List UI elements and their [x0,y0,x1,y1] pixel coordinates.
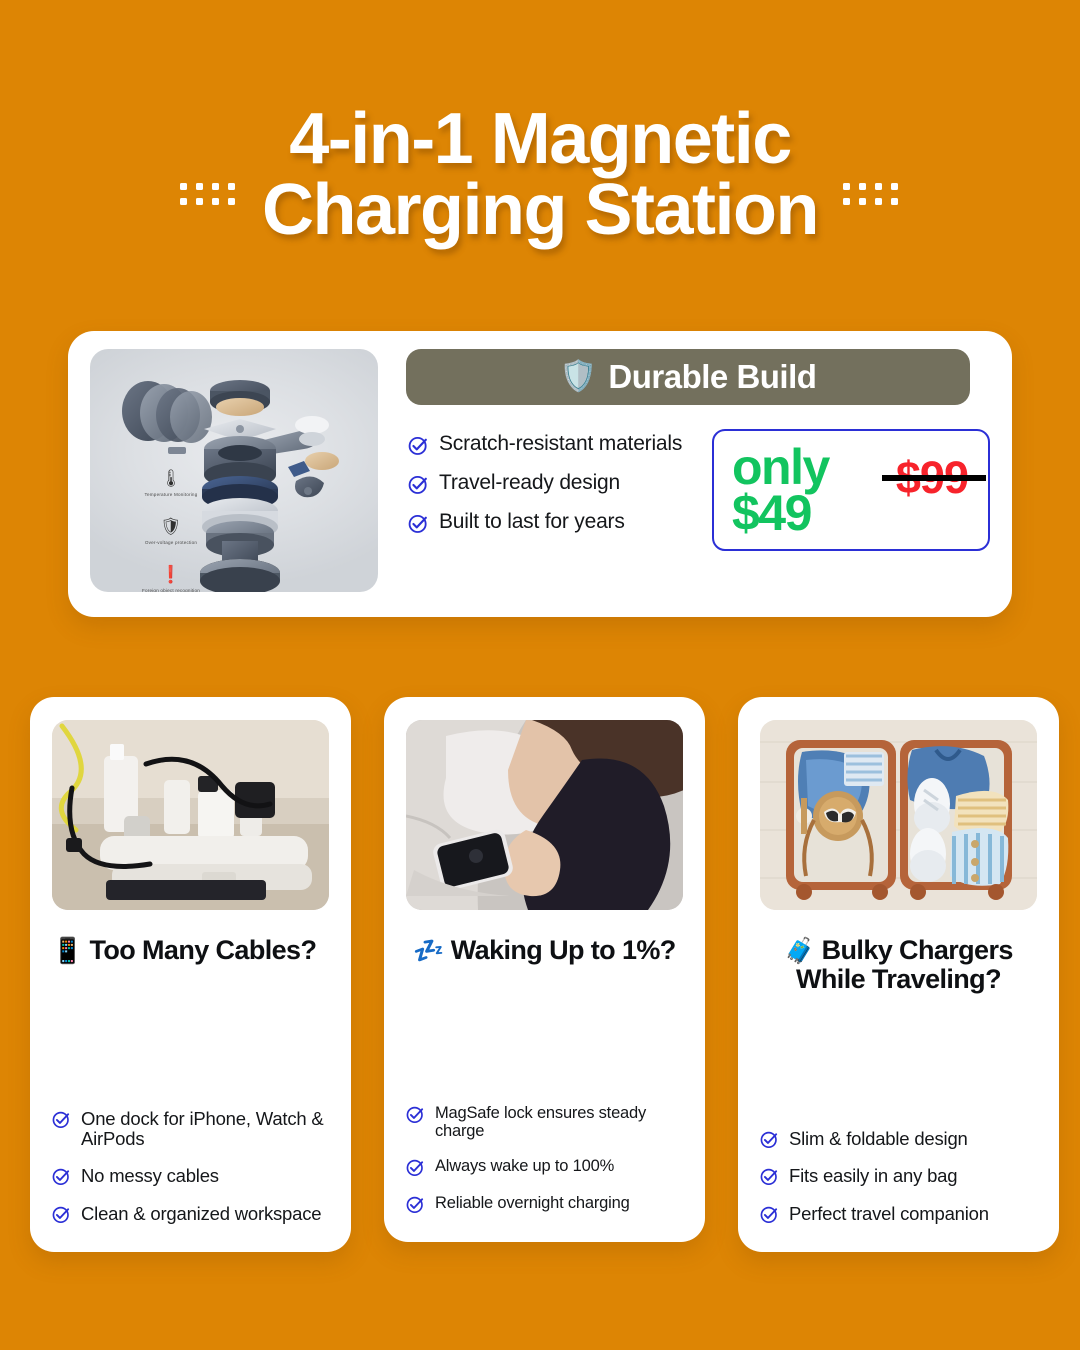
benefit-card-too-many-cables: 📱 Too Many Cables? One dock for iPhone, … [30,697,351,1252]
check-circle-icon [408,474,429,495]
zzz-sleep-emoji: 💤 [413,937,444,965]
power-strip-illustration [52,720,329,910]
thermometer-snowflake-icon: 🌡 [124,469,218,489]
exclamation-circle-icon: ❗ [124,565,218,585]
list-item: Clean & organized workspace [52,1204,329,1224]
page-title: 4-in-1 Magnetic Charging Station [0,104,1080,245]
product-feature-temperature: 🌡 Temperature Monitoring [124,469,218,498]
card-title-text: Bulky Chargers While Traveling? [796,935,1013,994]
dot-grid-right-decoration [843,183,898,205]
bullet-text: Perfect travel companion [789,1204,989,1224]
header: 4-in-1 Magnetic Charging Station [0,0,1080,300]
product-feature-foreign-object: ❗ Foreign object recognition [124,565,218,592]
feature-text: Built to last for years [439,511,625,534]
check-circle-icon [760,1130,779,1149]
bullet-text: Reliable overnight charging [435,1194,630,1212]
list-item: Always wake up to 100% [406,1157,683,1177]
price-box: only $49 $99 [712,429,990,551]
bullet-text: MagSafe lock ensures steady charge [435,1104,683,1140]
original-price-strikethrough: $99 [896,455,968,500]
card-bullet-list: MagSafe lock ensures steady charge Alway… [406,1104,683,1216]
check-circle-icon [408,513,429,534]
benefit-card-bulky-chargers: 🧳 Bulky Chargers While Traveling? Slim &… [738,697,1059,1252]
product-feature-label: Foreign object recognition [124,587,218,592]
check-circle-icon [406,1158,425,1177]
bullet-text: Always wake up to 100% [435,1157,614,1175]
check-circle-icon [760,1167,779,1186]
check-circle-icon [52,1167,71,1186]
list-item: Fits easily in any bag [760,1166,1037,1186]
bullet-text: Fits easily in any bag [789,1166,957,1186]
current-price: only $49 [732,444,829,536]
list-item: Travel-ready design [408,472,698,495]
mobile-phone-emoji: 📱 [52,937,83,965]
card-image-cables [52,720,329,910]
current-price-line-1: only [732,444,829,490]
current-price-line-2: $49 [732,490,829,536]
list-item: MagSafe lock ensures steady charge [406,1104,683,1140]
card-title: 🧳 Bulky Chargers While Traveling? [760,936,1037,994]
benefit-card-waking-up-to-1-percent: 💤 Waking Up to 1%? MagSafe lock ensures … [384,697,705,1242]
list-item: Built to last for years [408,511,698,534]
feature-text: Travel-ready design [439,472,620,495]
feature-text: Scratch-resistant materials [439,433,682,456]
durable-build-badge: 🛡️ Durable Build [406,349,970,405]
hero-card: 🌡 Temperature Monitoring 🛡 Over-voltage … [68,331,1012,617]
list-item: Scratch-resistant materials [408,433,698,456]
hero-body: Scratch-resistant materials Travel-ready… [398,405,994,599]
product-feature-label: Temperature Monitoring [124,491,218,498]
card-bullet-list: One dock for iPhone, Watch & AirPods No … [52,1109,329,1226]
card-title-text: Waking Up to 1%? [451,935,676,965]
card-image-suitcase [760,720,1037,910]
durable-build-label: Durable Build [608,358,816,396]
list-item: Slim & foldable design [760,1129,1037,1149]
bullet-text: Slim & foldable design [789,1129,968,1149]
hero-feature-list: Scratch-resistant materials Travel-ready… [408,429,698,599]
product-feature-label: Over-voltage protection [124,539,218,546]
shield-icon: 🛡️ [560,362,597,392]
check-circle-icon [52,1110,71,1129]
bullet-text: Clean & organized workspace [81,1204,321,1224]
shield-bolt-icon: 🛡 [124,517,218,537]
card-image-sleeping [406,720,683,910]
luggage-emoji: 🧳 [784,937,815,965]
card-bullet-list: Slim & foldable design Fits easily in an… [760,1129,1037,1226]
check-circle-icon [760,1205,779,1224]
product-image: 🌡 Temperature Monitoring 🛡 Over-voltage … [90,349,378,592]
product-feature-overvoltage: 🛡 Over-voltage protection [124,517,218,546]
benefit-cards: 📱 Too Many Cables? One dock for iPhone, … [30,697,1060,1252]
check-circle-icon [406,1195,425,1214]
dot-grid-left-decoration [180,183,235,205]
list-item: No messy cables [52,1166,329,1186]
card-title: 💤 Waking Up to 1%? [406,936,683,965]
list-item: Perfect travel companion [760,1204,1037,1224]
list-item: Reliable overnight charging [406,1194,683,1214]
packed-suitcase-illustration [760,720,1037,910]
hero-content: 🛡️ Durable Build Scratch-resistant mater… [378,349,994,599]
bullet-text: One dock for iPhone, Watch & AirPods [81,1109,329,1150]
sleeping-woman-illustration [406,720,683,910]
check-circle-icon [52,1205,71,1224]
check-circle-icon [406,1105,425,1124]
page-title-line-2: Charging Station [170,175,910,246]
bullet-text: No messy cables [81,1166,219,1186]
card-title: 📱 Too Many Cables? [52,936,329,965]
check-circle-icon [408,435,429,456]
card-title-text: Too Many Cables? [89,935,316,965]
page-title-line-1: 4-in-1 Magnetic [170,104,910,175]
list-item: One dock for iPhone, Watch & AirPods [52,1109,329,1150]
